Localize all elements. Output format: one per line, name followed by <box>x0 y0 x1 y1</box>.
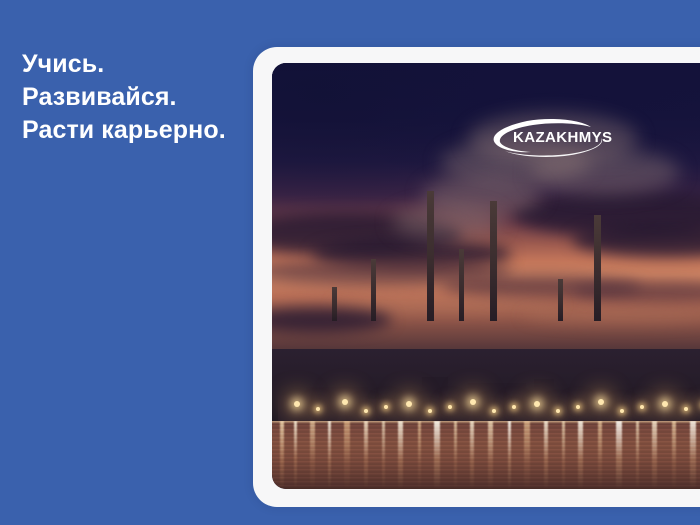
smokestack <box>459 249 464 321</box>
headline-line-1: Учись. <box>22 48 252 81</box>
hero-photo <box>272 63 700 489</box>
logo-wordmark: KAZAKHMYS <box>513 129 612 146</box>
kazakhmys-logo: KAZAKHMYS <box>487 118 609 160</box>
smokestack <box>490 201 497 321</box>
smoke-plume <box>392 205 502 239</box>
plant-silhouette <box>272 349 700 421</box>
smokestack <box>427 191 434 321</box>
smokestack <box>332 287 337 321</box>
headline-line-3: Расти карьерно. <box>22 114 252 147</box>
smokestack <box>558 279 563 321</box>
headline-line-2: Развивайся. <box>22 81 252 114</box>
smokestack <box>594 215 601 321</box>
banner-canvas: Учись. Развивайся. Расти карьерно. <box>0 0 700 525</box>
smokestack <box>371 259 376 321</box>
water-reflections <box>272 421 700 489</box>
headline-block: Учись. Развивайся. Расти карьерно. <box>22 48 252 147</box>
